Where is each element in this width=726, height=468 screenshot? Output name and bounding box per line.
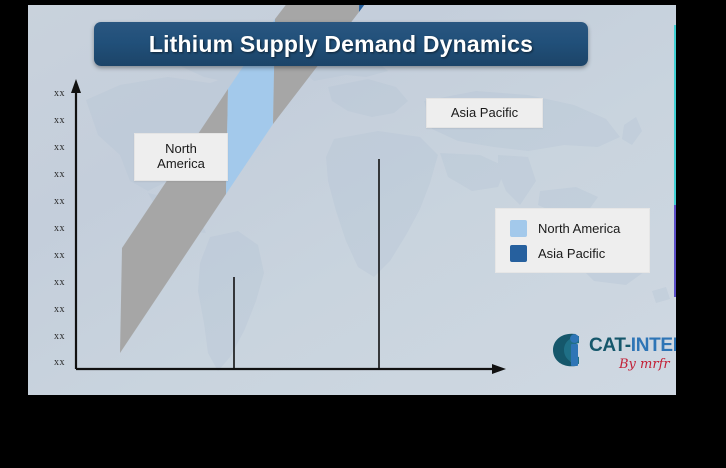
logo-byline: By mrfr (619, 357, 670, 372)
legend-item-north-america: North America (510, 216, 649, 241)
y-tick-label: xx (41, 115, 65, 126)
screenshot-canvas: xx xx xx xx xx xx xx xx xx xx xx North A… (0, 0, 726, 468)
callout-asia-pacific: Asia Pacific (426, 98, 543, 128)
y-tick-label: xx (41, 223, 65, 234)
logo-wordmark: CAT-INTEL (589, 335, 676, 357)
callout-north-america: North America (134, 133, 228, 181)
y-tick-label: xx (41, 304, 65, 315)
cat-intel-logo-icon (549, 329, 591, 371)
y-tick-label: xx (41, 142, 65, 153)
y-tick-label: xx (41, 196, 65, 207)
y-tick-label: xx (41, 357, 65, 368)
logo: CAT-INTEL By mrfr (549, 327, 676, 383)
legend-swatch-north-america (510, 220, 527, 237)
legend-label-north-america: North America (538, 221, 620, 236)
legend-label-asia-pacific: Asia Pacific (538, 246, 605, 261)
y-tick-label: xx (41, 169, 65, 180)
legend-item-asia-pacific: Asia Pacific (510, 241, 649, 266)
legend-swatch-asia-pacific (510, 245, 527, 262)
y-tick-label: xx (41, 88, 65, 99)
title-banner: Lithium Supply Demand Dynamics (94, 22, 588, 66)
y-tick-label: xx (41, 250, 65, 261)
logo-name-part1: CAT- (589, 335, 631, 356)
y-tick-label: xx (41, 277, 65, 288)
page-title: Lithium Supply Demand Dynamics (149, 31, 533, 58)
chart-legend: North America Asia Pacific (495, 208, 650, 273)
logo-name-part2: INTEL (631, 335, 676, 356)
slide-panel: xx xx xx xx xx xx xx xx xx xx xx North A… (28, 5, 676, 395)
y-tick-label: xx (41, 331, 65, 342)
